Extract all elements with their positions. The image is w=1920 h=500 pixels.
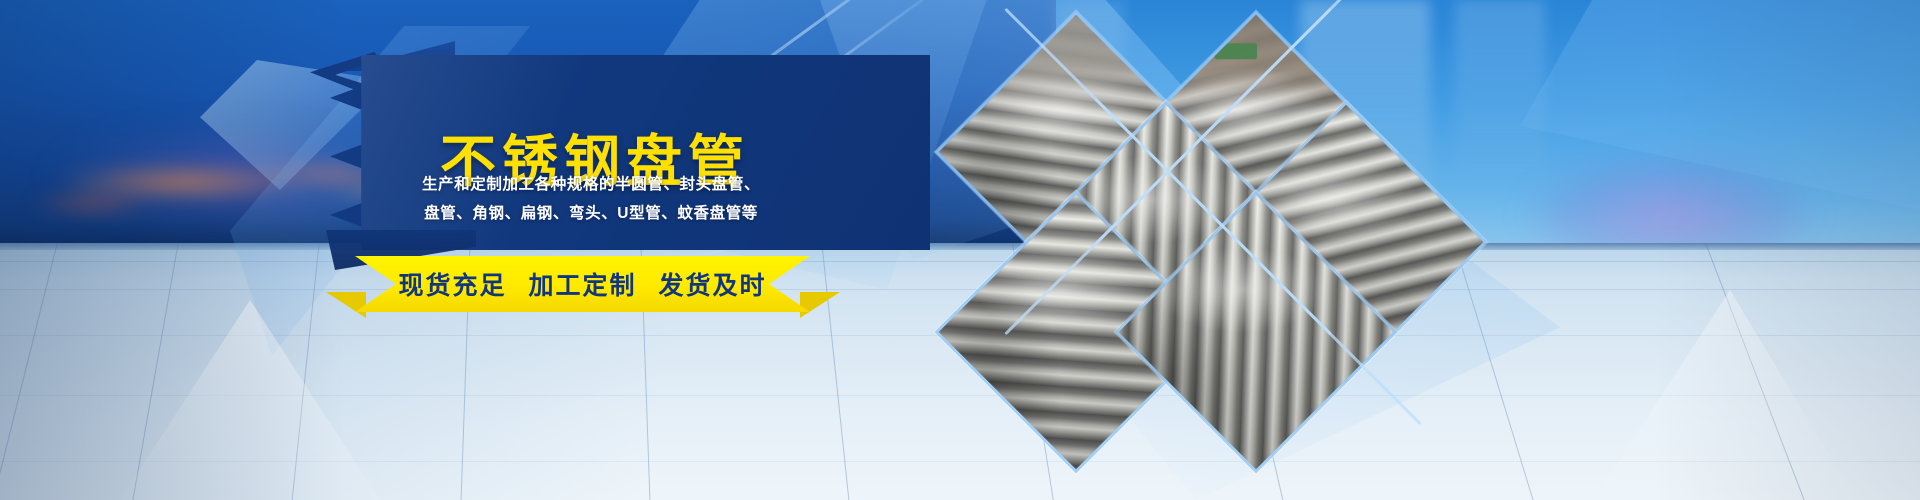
feature-ribbon-text: 现货充足 加工定制 发货及时 (355, 256, 810, 312)
feature-item-custom: 加工定制 (528, 266, 636, 302)
subtitle-line-1: 生产和定制加工各种规格的半圆管、封头盘管、 (406, 170, 776, 199)
feature-item-stock: 现货充足 (398, 266, 506, 302)
feature-item-delivery: 发货及时 (659, 266, 767, 302)
subtitle-block: 生产和定制加工各种规格的半圆管、封头盘管、 盘管、角钢、扁钢、弯头、U型管、蚊香… (406, 170, 776, 228)
subtitle-line-2: 盘管、角钢、扁钢、弯头、U型管、蚊香盘管等 (406, 199, 776, 228)
promo-banner: 不锈钢盘管 生产和定制加工各种规格的半圆管、封头盘管、 盘管、角钢、扁钢、弯头、… (0, 0, 1920, 500)
product-photo-diamond-cluster (826, 0, 1526, 500)
